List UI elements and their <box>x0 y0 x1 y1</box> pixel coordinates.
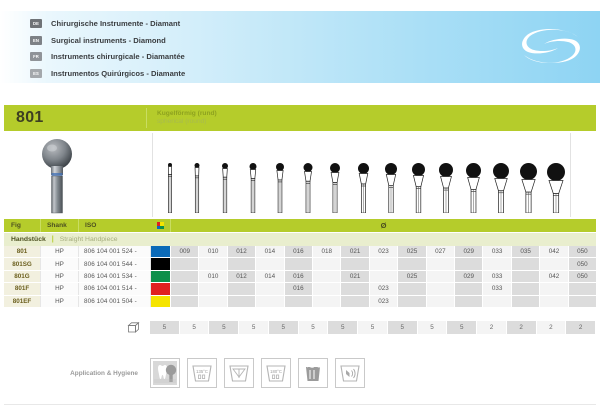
cell-size-value: 016 <box>284 246 312 257</box>
spherical-diamond-bur-detail <box>22 137 92 215</box>
cell-color-code-red <box>150 283 170 294</box>
package-box-icon <box>4 321 150 334</box>
language-title-list: DE Chirurgische Instrumente - Diamant EN… <box>30 16 185 82</box>
handpiece-subheader-row: Handstück | Straight Handpiece <box>4 233 596 246</box>
bur-illustration <box>489 161 513 213</box>
cell-size-value <box>397 296 425 307</box>
cell-size-value: 016 <box>284 283 312 294</box>
cell-fig: 801SG <box>4 258 40 269</box>
cell-size-value <box>511 271 539 282</box>
cell-size-value <box>539 283 567 294</box>
packaging-quantity-cell: 5 <box>328 321 358 334</box>
company-swoosh-logo <box>520 25 582 67</box>
packaging-quantity-cell: 5 <box>418 321 448 334</box>
cell-size-value: 035 <box>511 246 539 257</box>
packaging-quantity-cells: 555555555552222 <box>150 321 596 334</box>
cell-size-value <box>227 296 255 307</box>
table-header-row: Fig Shank ISO Ø <box>4 219 596 233</box>
cell-size-value: 029 <box>454 271 482 282</box>
header-iso: ISO <box>78 219 150 232</box>
cell-color-code-yellow <box>150 296 170 307</box>
cell-size-value <box>369 258 397 269</box>
cell-size-value <box>511 258 539 269</box>
cell-shank: HP <box>40 296 78 307</box>
bur-illustration <box>408 161 429 213</box>
cell-color-code-green <box>150 271 170 282</box>
page-header: DE Chirurgische Instrumente - Diamant EN… <box>0 11 600 83</box>
cell-size-value <box>568 283 596 294</box>
figure-shape-names: Kugelförmig (rund) spherical (round) <box>147 110 217 126</box>
cell-size-value <box>198 258 226 269</box>
packaging-quantity-row: 555555555552222 <box>4 320 596 335</box>
packaging-quantity-cell: 2 <box>566 321 596 334</box>
specification-table: Fig Shank ISO Ø Handstück | Straight Han… <box>4 219 596 308</box>
header-shank: Shank <box>40 219 78 232</box>
packaging-quantity-cell: 5 <box>209 321 239 334</box>
bur-illustration <box>326 161 344 213</box>
cell-size-value <box>284 258 312 269</box>
language-badge-fr: FR <box>30 52 42 61</box>
title-text-en: Surgical instruments - Diamond <box>51 36 166 45</box>
hygiene-icon-list: 135°C 180°C <box>150 358 365 388</box>
cell-fig: 801 <box>4 246 40 257</box>
catalog-page: DE Chirurgische Instrumente - Diamant EN… <box>0 0 600 412</box>
cell-size-value <box>340 283 368 294</box>
cell-size-value <box>539 296 567 307</box>
title-text-fr: Instruments chirurgicale - Diamantée <box>51 52 185 61</box>
cell-size-value <box>255 258 283 269</box>
packaging-quantity-cell: 5 <box>180 321 210 334</box>
cell-size-value: 023 <box>369 246 397 257</box>
cell-size-value <box>170 271 198 282</box>
cell-size-value <box>426 258 454 269</box>
bur-illustration <box>216 161 234 213</box>
figure-number: 801 <box>4 109 146 127</box>
cell-size-value <box>511 296 539 307</box>
cell-size-value <box>397 283 425 294</box>
cell-size-value: 027 <box>426 246 454 257</box>
cell-iso: 806 104 001 534 - <box>78 271 150 282</box>
cell-size-value <box>227 258 255 269</box>
cell-color-code-black <box>150 258 170 269</box>
cell-shank: HP <box>40 258 78 269</box>
tooth-application-icon <box>150 358 180 388</box>
table-row[interactable]: 801GHP806 104 001 534 -01001201401602102… <box>4 271 596 283</box>
cell-size-value: 042 <box>539 271 567 282</box>
bur-size-illustrations <box>156 131 570 219</box>
cell-size-value <box>312 283 340 294</box>
shape-name-de: Kugelförmig (rund) <box>157 110 217 118</box>
cell-size-value <box>426 283 454 294</box>
cell-size-value <box>454 258 482 269</box>
table-row[interactable]: 801FHP806 104 001 514 -016023033 <box>4 283 596 295</box>
cell-iso: 806 104 001 524 - <box>78 246 150 257</box>
cell-size-value: 009 <box>170 246 198 257</box>
cell-size-value <box>312 296 340 307</box>
cell-iso: 806 104 001 544 - <box>78 258 150 269</box>
cell-size-value: 014 <box>255 246 283 257</box>
bur-illustration <box>462 161 485 213</box>
cell-size-value <box>170 283 198 294</box>
svg-text:180°C: 180°C <box>270 369 282 374</box>
language-badge-es: ES <box>30 69 42 78</box>
bur-illustration <box>543 161 569 213</box>
cell-shank: HP <box>40 246 78 257</box>
ultrasonic-bath-icon <box>335 358 365 388</box>
cell-size-value <box>426 271 454 282</box>
cell-size-value: 023 <box>369 296 397 307</box>
cell-size-value <box>426 296 454 307</box>
language-row-en: EN Surgical instruments - Diamond <box>30 33 185 48</box>
figure-title-bar: 801 Kugelförmig (rund) spherical (round) <box>4 105 596 131</box>
bur-illustration <box>244 161 262 213</box>
cell-size-value: 023 <box>369 283 397 294</box>
cell-size-value <box>568 296 596 307</box>
cell-iso: 806 104 001 504 - <box>78 296 150 307</box>
handpiece-label-de: Handstück <box>11 236 46 243</box>
page-bottom-rule <box>4 404 596 405</box>
cell-size-value: 029 <box>454 246 482 257</box>
cell-size-value <box>198 296 226 307</box>
cell-size-value <box>284 296 312 307</box>
cell-fig: 801F <box>4 283 40 294</box>
ultrasonic-cleaning-icon <box>224 358 254 388</box>
cell-shank: HP <box>40 271 78 282</box>
language-badge-de: DE <box>30 19 42 28</box>
cell-size-value <box>312 271 340 282</box>
packaging-quantity-cell: 2 <box>507 321 537 334</box>
cell-size-value: 016 <box>284 271 312 282</box>
language-badge-en: EN <box>30 36 42 45</box>
header-fig: Fig <box>4 219 40 232</box>
cell-fig: 801G <box>4 271 40 282</box>
handpiece-label-en: Straight Handpiece <box>60 236 118 243</box>
cell-size-value: 050 <box>568 271 596 282</box>
cell-size-value: 033 <box>482 246 510 257</box>
cell-size-value: 021 <box>340 271 368 282</box>
cell-size-value: 033 <box>482 271 510 282</box>
bur-illustration <box>354 161 373 213</box>
table-row[interactable]: 801HP806 104 001 524 -009010012014016018… <box>4 246 596 258</box>
thermal-disinfection-icon: 135°C <box>187 358 217 388</box>
packaging-quantity-cell: 5 <box>269 321 299 334</box>
packaging-quantity-cell: 2 <box>537 321 567 334</box>
cell-size-value: 042 <box>539 246 567 257</box>
cell-size-value <box>227 283 255 294</box>
packaging-quantity-cell: 5 <box>299 321 329 334</box>
brush-cleaning-icon <box>298 358 328 388</box>
language-row-de: DE Chirurgische Instrumente - Diamant <box>30 16 185 31</box>
cell-color-code-blue <box>150 246 170 257</box>
cell-size-value <box>482 296 510 307</box>
header-diameter: Ø <box>170 219 596 232</box>
cell-size-value: 010 <box>198 271 226 282</box>
cell-size-value: 014 <box>255 271 283 282</box>
illustration-divider <box>152 133 153 217</box>
cell-size-value <box>482 258 510 269</box>
table-body: 801HP806 104 001 524 -009010012014016018… <box>4 246 596 308</box>
packaging-quantity-cell: 5 <box>447 321 477 334</box>
illustration-area <box>4 131 596 219</box>
cell-size-value: 012 <box>227 271 255 282</box>
cell-size-value <box>397 258 425 269</box>
bur-illustration <box>161 161 179 213</box>
cell-size-value <box>170 296 198 307</box>
cell-size-value <box>369 271 397 282</box>
title-text-es: Instrumentos Quirúrgicos - Diamante <box>51 69 185 78</box>
cell-size-value: 033 <box>482 283 510 294</box>
packaging-quantity-cell: 5 <box>388 321 418 334</box>
cell-size-value: 010 <box>198 246 226 257</box>
language-row-es: ES Instrumentos Quirúrgicos - Diamante <box>30 66 185 81</box>
cell-iso: 806 104 001 514 - <box>78 283 150 294</box>
title-text-de: Chirurgische Instrumente - Diamant <box>51 19 180 28</box>
bur-illustration <box>299 161 317 213</box>
table-row[interactable]: 801SGHP806 104 001 544 -050 <box>4 258 596 270</box>
cell-size-value <box>255 283 283 294</box>
cell-size-value <box>454 296 482 307</box>
table-row[interactable]: 801EFHP806 104 001 504 -023 <box>4 296 596 308</box>
cell-size-value <box>511 283 539 294</box>
svg-text:135°C: 135°C <box>196 369 208 374</box>
color-coding-icon <box>150 219 170 232</box>
language-row-fr: FR Instruments chirurgicale - Diamantée <box>30 49 185 64</box>
handpiece-separator: | <box>52 236 54 243</box>
cell-shank: HP <box>40 283 78 294</box>
cell-size-value <box>198 283 226 294</box>
cell-size-value: 021 <box>340 246 368 257</box>
application-hygiene-row: Application & Hygiene 135°C <box>4 352 596 394</box>
cell-size-value <box>255 296 283 307</box>
cell-size-value <box>539 258 567 269</box>
cell-size-value: 050 <box>568 258 596 269</box>
cell-size-value <box>170 258 198 269</box>
packaging-quantity-cell: 5 <box>239 321 269 334</box>
cell-size-value: 050 <box>568 246 596 257</box>
cell-size-value <box>312 258 340 269</box>
bur-illustration <box>435 161 457 213</box>
packaging-quantity-cell: 5 <box>358 321 388 334</box>
cell-size-value: 025 <box>397 246 425 257</box>
cell-size-value: 012 <box>227 246 255 257</box>
cell-size-value: 018 <box>312 246 340 257</box>
cell-size-value <box>340 258 368 269</box>
sterilization-icon: 180°C <box>261 358 291 388</box>
cell-size-value <box>454 283 482 294</box>
application-hygiene-label: Application & Hygiene <box>4 370 150 377</box>
packaging-quantity-cell: 2 <box>477 321 507 334</box>
bur-illustration <box>271 161 289 213</box>
cell-fig: 801EF <box>4 296 40 307</box>
cell-size-value: 025 <box>397 271 425 282</box>
bur-illustration <box>516 161 541 213</box>
bur-illustration <box>188 161 206 213</box>
bur-illustration <box>381 161 401 213</box>
illustration-divider-right <box>570 133 571 217</box>
packaging-quantity-cell: 5 <box>150 321 180 334</box>
shape-name-en: spherical (round) <box>157 118 217 126</box>
cell-size-value <box>340 296 368 307</box>
